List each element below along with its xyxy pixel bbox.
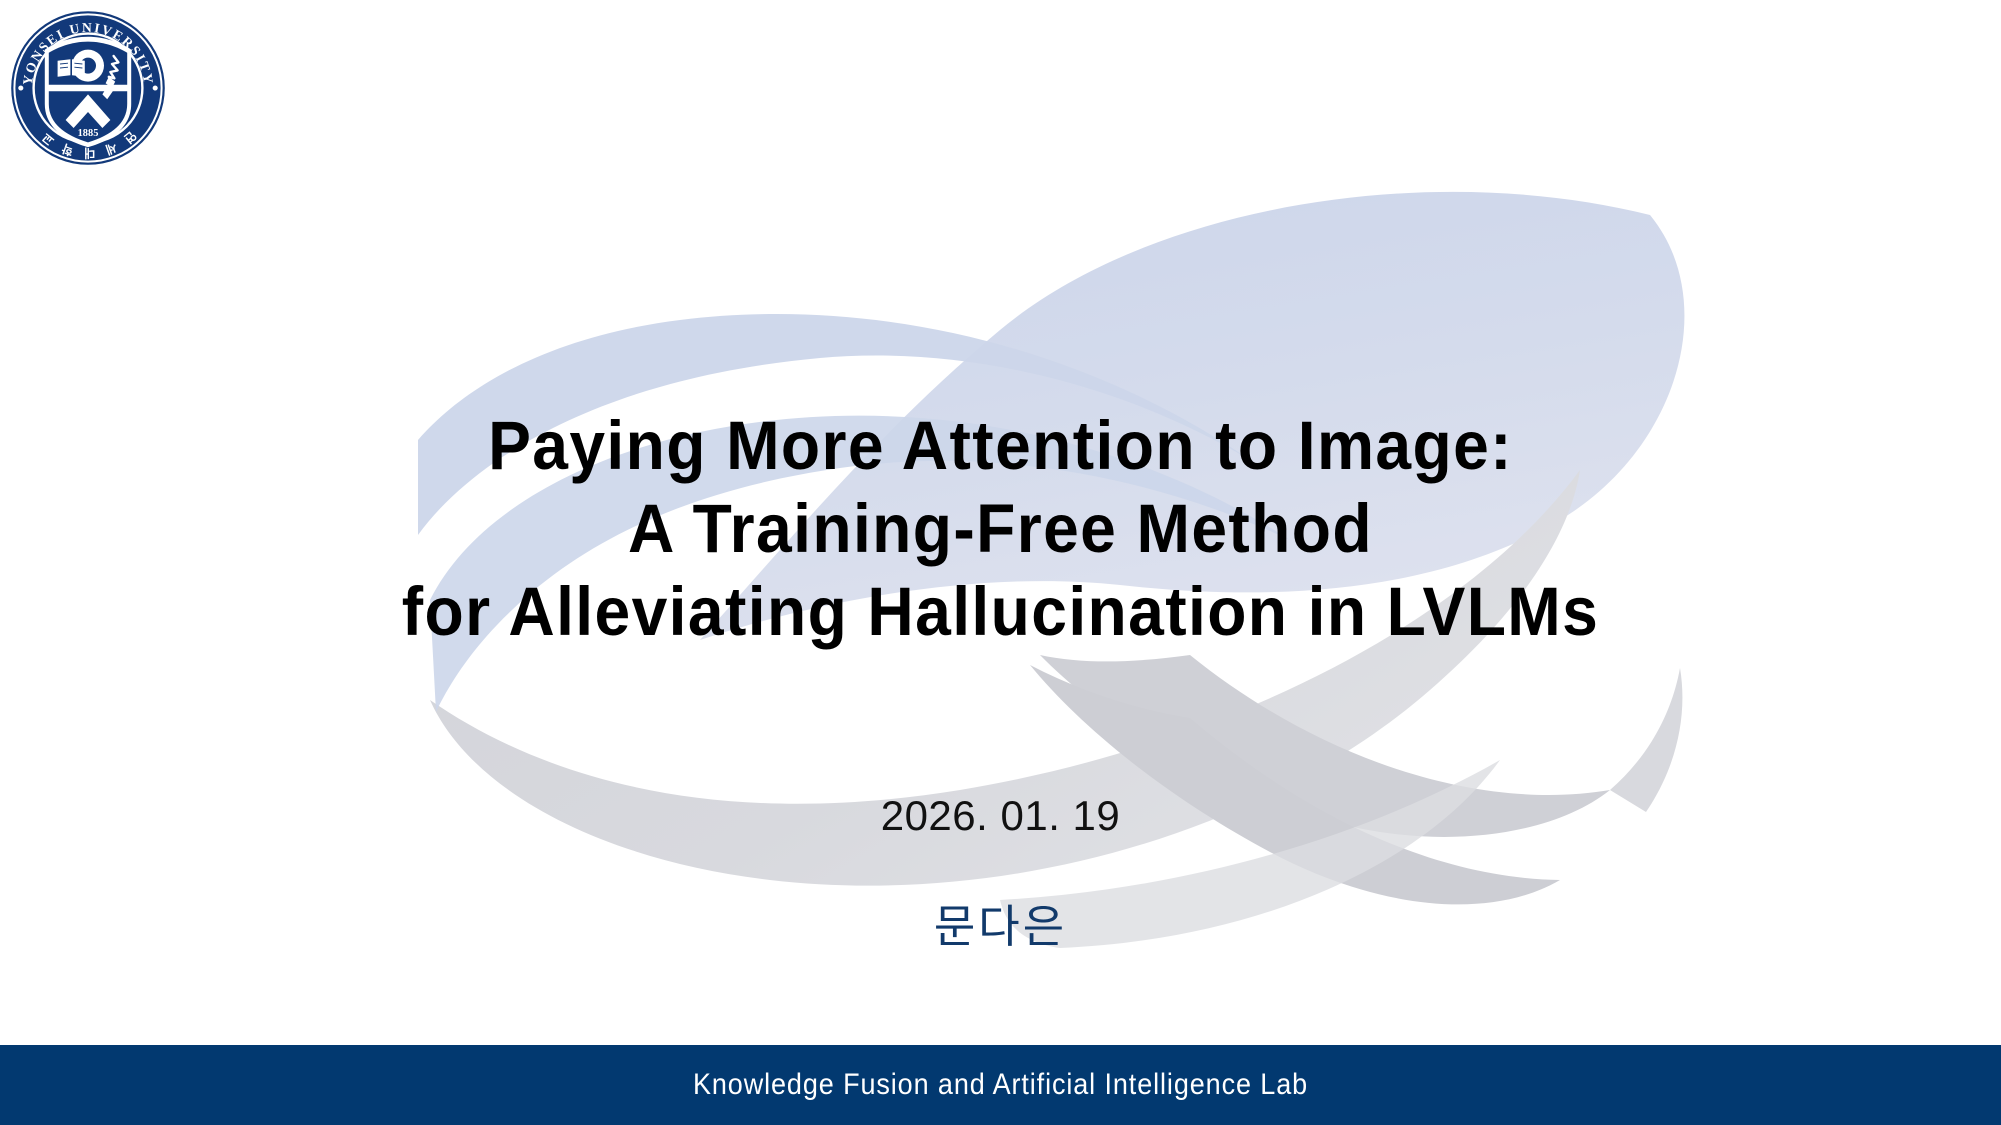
title-line-2: A Training-Free Method (70, 487, 1931, 570)
gray-ribbon-right-tail (1610, 668, 1682, 812)
logo-book-icon (58, 59, 85, 77)
logo-shield: 1885 (45, 37, 131, 147)
title-line-3: for Alleviating Hallucination in LVLMs (70, 570, 1931, 653)
gray-ribbon-right-lower (1030, 665, 1560, 904)
yonsei-university-logo: YONSEI UNIVERSITY 연 세 대 학 교 (8, 8, 168, 168)
lab-name-label: Knowledge Fusion and Artificial Intellig… (100, 1045, 1901, 1125)
presenter-name: 문다은 (0, 890, 2001, 955)
presentation-date: 2026. 01. 19 (0, 792, 2001, 840)
presentation-title-slide: YONSEI UNIVERSITY 연 세 대 학 교 (0, 0, 2001, 1125)
footer-bar: Knowledge Fusion and Artificial Intellig… (0, 1045, 2001, 1125)
logo-founded-year: 1885 (78, 128, 99, 139)
title-line-1: Paying More Attention to Image: (70, 404, 1931, 487)
slide-title: Paying More Attention to Image: A Traini… (0, 404, 2001, 653)
